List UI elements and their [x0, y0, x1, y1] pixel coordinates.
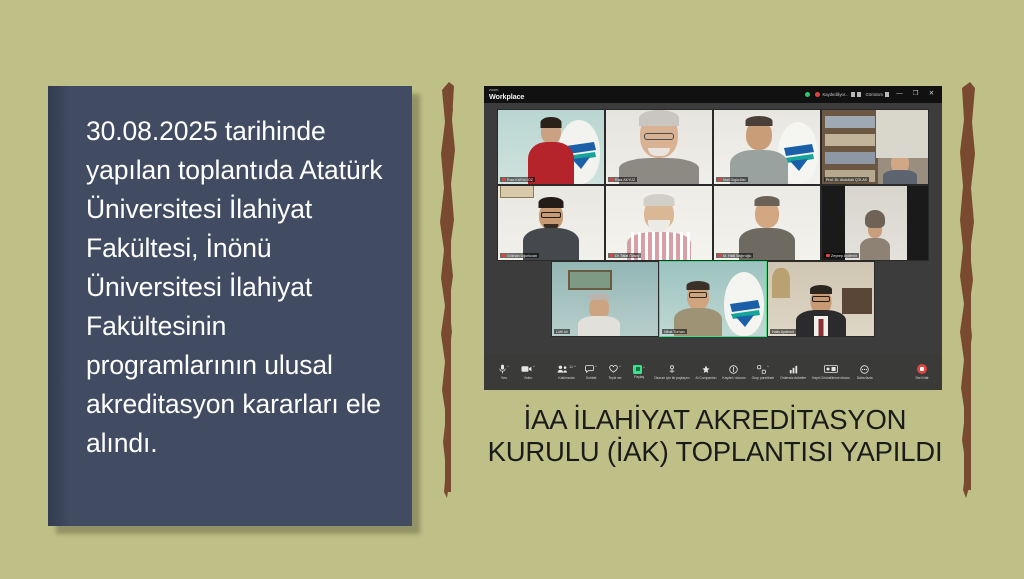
toolbar-record-button[interactable]: Kaydet / oturum — [719, 364, 748, 381]
participant-tile[interactable]: Nuri Ülgüclüer — [713, 109, 821, 185]
person-hair — [810, 285, 832, 294]
book-row — [825, 152, 875, 164]
video-grid-row: Gökhan Uğurlucan Dr. Talat Özsoy — [484, 185, 942, 261]
mic-muted-icon — [826, 254, 830, 258]
participant-name-label: Nihat Turhan — [662, 329, 687, 334]
toolbar-ai-companion-button[interactable]: AI Companion — [692, 364, 719, 381]
zoom-meeting-window[interactable]: zoom Workplace Kaydediliyor... Görünüm —… — [484, 86, 942, 390]
breakout-rooms-icon — [757, 364, 766, 375]
leave-meeting-icon — [917, 364, 927, 374]
mic-muted-icon — [610, 254, 614, 258]
book-row — [825, 116, 875, 128]
more-icon — [860, 364, 869, 375]
chat-bubble-icon — [585, 364, 594, 375]
person-hair — [755, 196, 780, 206]
toolbar-video-button[interactable]: ^ Video — [516, 364, 540, 381]
chevron-up-icon[interactable]: ^ — [507, 364, 509, 370]
brand-workplace-label: Workplace — [489, 93, 524, 100]
chevron-up-icon[interactable]: ^ — [619, 364, 621, 370]
participant-name-text: Prof. Dr. Abdullah ÇOLAK — [826, 178, 867, 182]
participant-name-text: Rıza AKYÜZ — [615, 178, 635, 182]
record-icon — [729, 364, 738, 375]
person-hair — [539, 197, 564, 208]
microphone-icon — [499, 364, 506, 375]
participant-name-text: Rıza KARAGÖZ — [507, 178, 533, 182]
wall-painting — [568, 270, 612, 290]
participant-tile[interactable]: Rıza KARAGÖZ — [497, 109, 605, 185]
toolbar-record-label: Kaydet / oturum — [722, 376, 745, 380]
mic-muted-icon — [502, 254, 506, 258]
meeting-toolbar[interactable]: ^ Ses ^ Video 11 — [484, 354, 942, 390]
slide-canvas: 30.08.2025 tarihinde yapılan toplantıda … — [0, 0, 1024, 579]
participant-name-text: Lütfi Ali — [556, 330, 568, 334]
toolbar-more-button[interactable]: Daha fazla — [853, 364, 877, 381]
person-hair — [891, 150, 910, 158]
toolbar-chat-button[interactable]: ^ Sohbet — [579, 364, 603, 381]
participant-name-text: Nihat Turhan — [664, 330, 685, 334]
titlebar-right-controls: Kaydediliyor... Görünüm — ❐ ✕ — [805, 91, 937, 98]
video-grid-stage: Rıza KARAGÖZ Rıza AKYÜZ — [484, 103, 942, 354]
participant-name-label: Halis Aydemir — [770, 329, 796, 334]
participant-name-text: M. Halil Sağıroğlu — [723, 254, 751, 258]
participant-name-text: Gökhan Uğurlucan — [507, 254, 537, 258]
video-grid-row: Lütfi Ali Nihat Turh — [484, 261, 942, 337]
caption-heading: İAA İLAHİYAT AKREDİTASYON KURULU (İAK) T… — [476, 404, 954, 469]
mic-muted-icon — [610, 178, 614, 182]
participant-name-text: Zeynep Aydemir — [831, 254, 857, 258]
participant-name-label: Zeynep Aydemir — [824, 253, 859, 258]
eyeglasses-icon — [689, 292, 707, 298]
video-grid-row: Rıza KARAGÖZ Rıza AKYÜZ — [484, 109, 942, 185]
participant-name-label: Prof. Dr. Abdullah ÇOLAK — [824, 177, 869, 182]
toolbar-apps-label: Oturum için bir paylaşım — [654, 376, 689, 380]
participant-tile[interactable]: Gökhan Uğurlucan — [497, 185, 605, 261]
toolbar-share-label: Paylaş — [634, 375, 644, 379]
apps-icon — [668, 364, 676, 375]
recording-pause-icon[interactable] — [851, 92, 855, 97]
chevron-up-icon[interactable]: ^ — [643, 365, 645, 371]
brush-stroke-left-icon — [438, 80, 460, 500]
person-hair — [745, 116, 772, 126]
necktie — [819, 319, 824, 336]
polls-icon — [789, 364, 798, 375]
recording-label: Kaydediliyor... — [822, 92, 848, 97]
person-body — [578, 316, 620, 336]
share-screen-icon — [633, 365, 642, 374]
view-grid-icon — [885, 92, 889, 97]
toolbar-chat-label: Sohbet — [586, 376, 597, 380]
person-hair — [588, 293, 609, 300]
toolbar-leave-meeting-button[interactable]: Sen'i bitir — [910, 364, 934, 380]
ai-companion-icon — [702, 364, 710, 375]
chevron-up-icon[interactable]: ^ — [595, 364, 597, 370]
toolbar-share-screen-button[interactable]: ^ Paylaş — [627, 365, 651, 380]
toolbar-apps-button[interactable]: Oturum için bir paylaşım — [651, 364, 692, 381]
person-hair — [639, 110, 679, 126]
toolbar-notes-button[interactable]: Kayıt Görüntüleme ekranı — [809, 364, 852, 381]
toolbar-ai-label: AI Companion — [695, 376, 716, 380]
toolbar-leave-label: Sen'i bitir — [915, 376, 928, 380]
toolbar-reactions-label: Tepki ver — [608, 376, 621, 380]
chevron-up-icon[interactable]: ^ — [574, 364, 576, 370]
view-selector[interactable]: Görünüm — [866, 92, 889, 97]
person-body — [860, 238, 890, 260]
eyeglasses-icon — [812, 296, 830, 302]
participant-name-label: Gökhan Uğurlucan — [500, 253, 539, 258]
participant-tile-active-speaker[interactable]: Nihat Turhan — [659, 261, 767, 337]
connection-status-dot-icon — [805, 92, 810, 97]
participant-name-label: Rıza KARAGÖZ — [500, 177, 535, 182]
brush-stroke-right-icon — [958, 80, 980, 500]
participant-name-label: M. Halil Sağıroğlu — [716, 253, 753, 258]
participant-tile[interactable]: Rıza AKYÜZ — [605, 109, 713, 185]
reactions-heart-icon — [609, 364, 618, 375]
toolbar-more-label: Daha fazla — [857, 376, 873, 380]
participant-tile[interactable]: M. Halil Sağıroğlu — [713, 185, 821, 261]
participant-name-text: Halis Aydemir — [772, 330, 794, 334]
participant-tile[interactable]: Prof. Dr. Abdullah ÇOLAK — [821, 109, 929, 185]
person-body — [883, 170, 917, 184]
caption-line-2: KURULU (İAK) TOPLANTISI YAPILDI — [476, 436, 954, 468]
person-hair — [644, 194, 675, 206]
toolbar-mic-button[interactable]: ^ Ses — [492, 364, 516, 381]
toolbar-video-label: Video — [524, 376, 532, 380]
eyeglasses-icon — [644, 133, 674, 140]
participant-tile[interactable]: Dr. Talat Özsoy — [605, 185, 713, 261]
recording-indicator[interactable]: Kaydediliyor... — [815, 92, 860, 97]
book-row — [825, 134, 875, 146]
headscarf — [865, 210, 885, 228]
recording-dot-icon — [815, 92, 820, 97]
maximize-button[interactable]: ❐ — [910, 91, 921, 98]
participant-name-label: Rıza AKYÜZ — [608, 177, 637, 182]
participant-tile[interactable]: Lütfi Ali — [551, 261, 659, 337]
chevron-up-icon[interactable]: ^ — [767, 364, 769, 370]
university-logo-icon — [728, 298, 762, 328]
participant-name-text: Dr. Talat Özsoy — [615, 254, 639, 258]
close-button[interactable]: ✕ — [926, 91, 937, 98]
chevron-up-icon[interactable]: ^ — [533, 364, 535, 370]
person-hair — [541, 117, 562, 128]
recording-stop-icon[interactable] — [857, 92, 861, 97]
toolbar-participants-button[interactable]: 11 ^ Katılımcılar — [554, 364, 579, 381]
mic-muted-icon — [502, 178, 506, 182]
toolbar-participants-label: Katılımcılar — [558, 376, 574, 380]
mic-muted-icon — [718, 178, 722, 182]
window-titlebar: zoom Workplace Kaydediliyor... Görünüm —… — [484, 86, 942, 103]
toolbar-notes-label: Kayıt Görüntüleme ekranı — [812, 376, 849, 380]
zoom-brand-logo: zoom Workplace — [489, 89, 524, 100]
panel-body-text: 30.08.2025 tarihinde yapılan toplantıda … — [86, 112, 391, 463]
participant-name-label: Nuri Ülgüclüer — [716, 177, 748, 182]
person-hair — [687, 281, 710, 290]
participants-count-badge: 11 — [569, 364, 573, 370]
participant-tile[interactable]: Halis Aydemir — [767, 261, 875, 337]
participant-tile[interactable]: Zeynep Aydemir — [821, 185, 929, 261]
toolbar-breakout-rooms-button[interactable]: ^ Grup panelinde — [749, 364, 778, 381]
toolbar-polls-button[interactable]: Ordensiz Anketler — [777, 364, 809, 381]
toolbar-reactions-button[interactable]: ^ Tepki ver — [603, 364, 627, 381]
wall-frame — [500, 185, 534, 198]
text-panel: 30.08.2025 tarihinde yapılan toplantıda … — [48, 86, 412, 526]
participant-name-label: Dr. Talat Özsoy — [608, 253, 641, 258]
participant-name-label: Lütfi Ali — [554, 329, 570, 334]
caption-line-1: İAA İLAHİYAT AKREDİTASYON — [476, 404, 954, 436]
participants-icon — [557, 364, 568, 375]
notes-icon — [824, 364, 838, 375]
minimize-button[interactable]: — — [894, 91, 905, 98]
text-panel-left-edge — [48, 86, 70, 526]
toolbar-mic-label: Ses — [501, 376, 507, 380]
participant-name-text: Nuri Ülgüclüer — [723, 178, 746, 182]
video-camera-icon — [521, 364, 532, 375]
eyeglasses-icon — [541, 212, 561, 218]
toolbar-polls-label: Ordensiz Anketler — [780, 376, 806, 380]
bookshelf — [842, 288, 872, 314]
mic-muted-icon — [718, 254, 722, 258]
view-label: Görünüm — [866, 92, 883, 97]
decor-object — [772, 268, 790, 298]
toolbar-breakout-label: Grup panelinde — [752, 376, 775, 380]
